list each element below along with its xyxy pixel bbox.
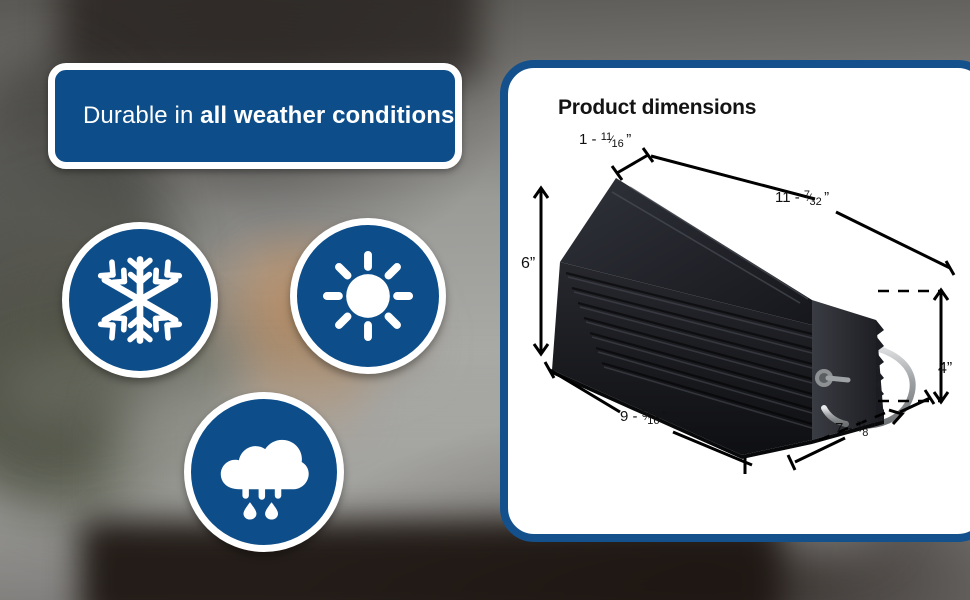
dim-whole: 11 - [775,189,804,206]
dim-denominator: 8 [862,427,868,439]
dim-fraction: 5⁄16 [642,411,662,423]
dim-unit: ” [626,131,631,148]
dim-unit: ” [947,360,952,377]
dim-whole: 4 [938,360,947,377]
dimension-label-depth: 7 - 7⁄8” [835,420,876,437]
dim-whole: 7 - [835,420,857,437]
dim-denominator: 16 [612,138,624,150]
dim-fraction: 11⁄16 [601,134,627,146]
dim-fraction: 7⁄8 [857,423,871,435]
product-feature-graphic: Durable in all weather conditions [0,0,970,600]
dim-denominator: 16 [647,415,659,427]
dim-unit: ” [824,189,829,206]
dimension-drawing [0,0,970,600]
dim-whole: 6 [521,255,530,272]
dimension-label-top-face-width: 1 - 11⁄16” [579,131,631,148]
dimension-label-height: 6” [521,255,535,273]
dim-fraction: 7⁄32 [804,192,824,204]
dim-whole: 9 - [620,408,642,425]
wheel-chock-product-image [552,178,913,459]
dim-unit: ” [871,420,876,437]
dimension-label-side-height: 4” [938,360,952,378]
dim-unit: ” [530,255,535,272]
dimension-label-base-length: 9 - 5⁄16” [620,408,667,425]
dim-whole: 1 - [579,131,601,148]
dimension-label-slant-length: 11 - 7⁄32” [775,189,829,206]
dim-denominator: 32 [809,196,821,208]
dim-unit: ” [662,408,667,425]
